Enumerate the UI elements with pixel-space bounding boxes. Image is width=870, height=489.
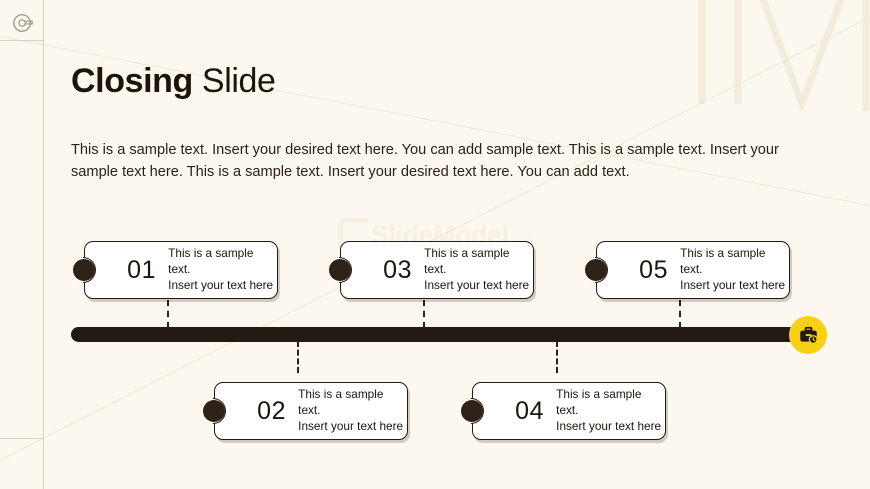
card-description-line-1: This is a sample text. [168,246,277,278]
page-subtitle: This is a sample text. Insert your desir… [71,139,786,184]
card-number: 05 [631,256,676,285]
timeline-card-01[interactable]: 01 This is a sample text. Insert your te… [84,241,278,299]
timeline-bar [71,327,799,342]
card-description: This is a sample text. Insert your text … [168,246,277,293]
card-description-line-1: This is a sample text. [424,246,533,278]
card-description-line-2: Insert your text here [168,278,277,294]
briefcase-clock-icon [798,325,819,346]
connector-02 [297,341,299,373]
card-description: This is a sample text. Insert your text … [298,387,407,434]
page-title-light: Slide [193,62,276,100]
card-description-line-1: This is a sample text. [298,387,407,419]
chevron-decoration [680,0,870,111]
card-number: 01 [119,256,164,285]
diagonal-accent-line-2 [0,30,870,222]
card-number: 02 [249,397,294,426]
timeline-end-marker[interactable] [789,316,827,354]
card-bullet-dot [73,259,95,281]
card-description-line-2: Insert your text here [556,419,665,435]
connector-03 [423,300,425,328]
helmet-icon [12,12,34,34]
presentation-slide: SlideModel .net Closing Slide This is a … [0,0,870,489]
card-bullet-dot [329,259,351,281]
card-description: This is a sample text. Insert your text … [556,387,665,434]
card-description-line-2: Insert your text here [680,278,789,294]
connector-04 [556,341,558,373]
card-bullet-dot [203,400,225,422]
timeline-card-03[interactable]: 03 This is a sample text. Insert your te… [340,241,534,299]
left-rail-bottom-divider [0,438,43,439]
card-description-line-1: This is a sample text. [556,387,665,419]
timeline-card-02[interactable]: 02 This is a sample text. Insert your te… [214,382,408,440]
card-description-line-2: Insert your text here [298,419,407,435]
left-rail-vertical-line [43,0,44,489]
timeline-card-04[interactable]: 04 This is a sample text. Insert your te… [472,382,666,440]
card-description: This is a sample text. Insert your text … [424,246,533,293]
page-title-bold: Closing [71,62,193,100]
card-description-line-2: Insert your text here [424,278,533,294]
card-number: 03 [375,256,420,285]
timeline-card-05[interactable]: 05 This is a sample text. Insert your te… [596,241,790,299]
connector-05 [679,300,681,328]
card-description-line-1: This is a sample text. [680,246,789,278]
card-description: This is a sample text. Insert your text … [680,246,789,293]
page-title: Closing Slide [71,62,276,101]
card-bullet-dot [585,259,607,281]
connector-01 [167,300,169,328]
card-number: 04 [507,397,552,426]
card-bullet-dot [461,400,483,422]
left-rail-top-divider [0,40,43,41]
